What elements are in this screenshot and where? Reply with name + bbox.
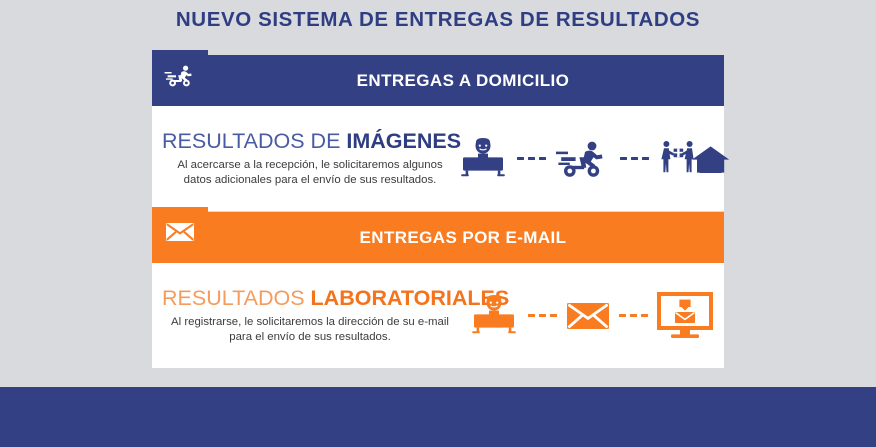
text-column-email: RESULTADOS LABORATORIALES Al registrarse… [152, 286, 458, 345]
flow-connector-dots-1-email [519, 314, 566, 317]
monitor-inbox-icon [657, 292, 713, 340]
description-line-2-domicilio: datos adicionales para el envío de sus r… [162, 173, 458, 188]
section-description-domicilio: Al acercarse a la recepción, le solicita… [162, 158, 458, 188]
section-card-domicilio: ENTREGAS A DOMICILIO RESULTADOS DE IMÁGE… [152, 55, 724, 211]
section-banner-title-domicilio: ENTREGAS A DOMICILIO [357, 71, 570, 91]
scooter-delivery-icon [555, 138, 611, 180]
text-column-domicilio: RESULTADOS DE IMÁGENES Al acercarse a la… [152, 129, 458, 188]
section-body-email: RESULTADOS LABORATORIALES Al registrarse… [152, 263, 724, 368]
section-banner-title-email: ENTREGAS POR E-MAIL [360, 228, 567, 248]
flow-connector-dots-2-domicilio [611, 157, 658, 160]
scooter-delivery-icon [164, 64, 196, 88]
infographic-canvas: NUEVO SISTEMA DE ENTREGAS DE RESULTADOS [0, 0, 876, 447]
section-body-domicilio: RESULTADOS DE IMÁGENES Al acercarse a la… [152, 106, 724, 211]
page-title: NUEVO SISTEMA DE ENTREGAS DE RESULTADOS [0, 8, 876, 32]
section-card-email: ENTREGAS POR E-MAIL RESULTADOS LABORATOR… [152, 212, 724, 368]
description-line-1-domicilio: Al acercarse a la recepción, le solicita… [162, 158, 458, 173]
description-line-2-email: para el envío de sus resultados. [162, 330, 458, 345]
reception-desk-icon [469, 295, 519, 337]
section-heading-email: RESULTADOS LABORATORIALES [162, 286, 458, 310]
section-description-email: Al registrarse, le solicitaremos la dire… [162, 315, 458, 345]
flow-icons-email [458, 292, 724, 340]
flow-connector-dots-2-email [610, 314, 657, 317]
footer-bar [0, 387, 876, 447]
heading-light-domicilio: RESULTADOS DE [162, 129, 346, 153]
reception-desk-icon [458, 138, 508, 180]
section-banner-domicilio: ENTREGAS A DOMICILIO [152, 55, 724, 106]
package-handoff-house-icon [658, 138, 732, 180]
envelope-icon [165, 221, 195, 243]
flow-connector-dots-1-domicilio [508, 157, 555, 160]
heading-light-email: RESULTADOS [162, 286, 311, 310]
section-heading-domicilio: RESULTADOS DE IMÁGENES [162, 129, 458, 153]
description-line-1-email: Al registrarse, le solicitaremos la dire… [162, 315, 458, 330]
envelope-icon [566, 300, 610, 332]
flow-icons-domicilio [458, 138, 732, 180]
heading-bold-domicilio: IMÁGENES [346, 129, 461, 153]
section-banner-email: ENTREGAS POR E-MAIL [152, 212, 724, 263]
